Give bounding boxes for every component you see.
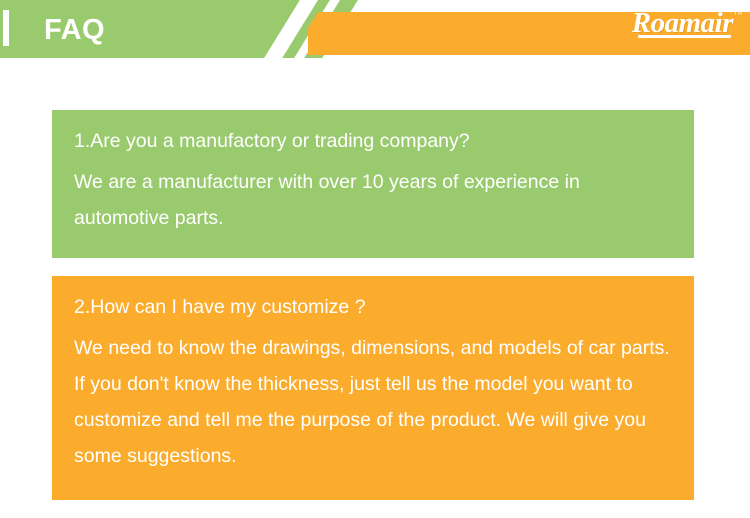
page-title: FAQ xyxy=(44,11,105,49)
faq-item-2: 2.How can I have my customize ? We need … xyxy=(52,276,694,500)
header-bottom-edge xyxy=(0,58,750,60)
faq-item-1: 1.Are you a manufactory or trading compa… xyxy=(52,110,694,258)
faq-list: 1.Are you a manufactory or trading compa… xyxy=(52,110,694,500)
trademark-icon: ™ xyxy=(734,10,742,19)
faq-question-1: 1.Are you a manufactory or trading compa… xyxy=(74,124,672,158)
header-left-notch xyxy=(3,10,9,46)
faq-question-2: 2.How can I have my customize ? xyxy=(74,290,672,324)
faq-answer-1: We are a manufacturer with over 10 years… xyxy=(74,164,672,240)
brand-logo: Roamair™ xyxy=(632,8,742,38)
page-header: FAQ Roamair™ xyxy=(0,0,750,60)
faq-answer-2: We need to know the drawings, dimensions… xyxy=(74,330,672,474)
brand-name: Roamair™ xyxy=(632,8,742,38)
brand-name-text: Roamair xyxy=(632,7,733,39)
